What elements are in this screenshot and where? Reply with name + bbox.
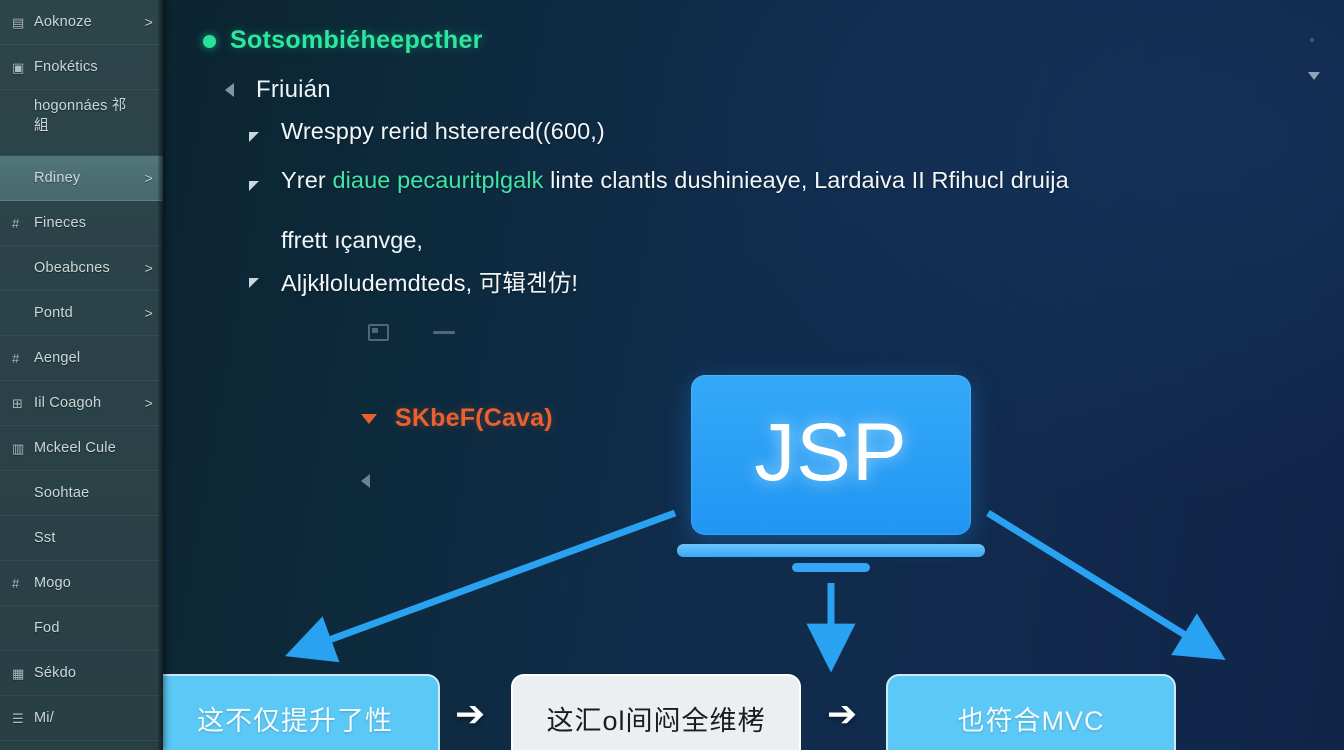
sidebar-item-12[interactable]: #Mogo xyxy=(0,561,163,606)
sidebar-item-label: hogonnáes 祁組 xyxy=(34,96,139,136)
bullet-text-post: linte clantls dushinieaye, Lardaiva II R… xyxy=(543,167,1068,193)
outline-bullet-text: Yrer diaue pecauritplgalk linte clantls … xyxy=(249,167,1069,194)
sidebar-item-2[interactable]: hogonnáes 祁組 xyxy=(0,90,163,156)
sidebar-item-label: Sékdo xyxy=(34,665,139,681)
outline-bullet-text: Wresppy rerid hsterered((600,) xyxy=(249,118,605,145)
chevron-right-icon: > xyxy=(139,14,153,30)
sidebar-item-7[interactable]: #Aengel xyxy=(0,336,163,381)
sidebar-item-1[interactable]: ▣Fnokétics xyxy=(0,45,163,90)
bullet-text-pre: Wresppy rerid hsterered((600,) xyxy=(281,118,605,144)
image-placeholder-icon xyxy=(368,324,389,341)
app-root: ▤Aoknoze>▣Fnokéticshogonnáes 祁組Rdiney>#F… xyxy=(0,0,1344,750)
jsp-laptop-graphic: JSP xyxy=(691,375,971,572)
outline-bullets: Wresppy rerid hsterered((600,) Yrer diau… xyxy=(163,118,1344,313)
arrow-left xyxy=(310,513,675,647)
sidebar-item-11[interactable]: Sst xyxy=(0,516,163,561)
sidebar-item-label: Pontd xyxy=(34,305,139,321)
bullet-triangle-icon xyxy=(249,132,259,142)
bullet-triangle-icon xyxy=(249,278,259,288)
arrow-right xyxy=(988,513,1203,646)
outline-section-2-text: SKbeF(Cava) xyxy=(395,404,553,433)
sidebar-item-14[interactable]: ▦Sékdo xyxy=(0,651,163,696)
sidebar-item-8[interactable]: ⊞Iil Coagoh> xyxy=(0,381,163,426)
bank-icon: ▦ xyxy=(12,667,34,680)
sidebar-item-label: Rdiney xyxy=(34,170,139,186)
edge-marker-dot xyxy=(1310,38,1314,42)
inbox-icon: ▣ xyxy=(12,61,34,74)
sidebar-item-5[interactable]: Obeabcnes> xyxy=(0,246,163,291)
outline-bullet-text: Aljkłloludemdteds, 可辑곈仿! xyxy=(249,264,578,298)
outline-section-2[interactable]: SKbeF(Cava) xyxy=(361,404,553,433)
outline-level1[interactable]: Friuián xyxy=(225,76,331,104)
outline-bullet[interactable]: Yrer diaue pecauritplgalk linte clantls … xyxy=(163,167,1344,215)
laptop-base xyxy=(677,544,985,557)
chevron-right-icon: > xyxy=(139,395,153,411)
monitor-icon: ▥ xyxy=(12,442,34,455)
collapse-triangle-icon[interactable] xyxy=(225,83,234,97)
laptop-screen: JSP xyxy=(691,375,971,535)
sidebar-edge-shadow xyxy=(158,0,163,750)
sidebar-item-label: Mckeel Cule xyxy=(34,440,139,456)
bullet-triangle-icon xyxy=(249,181,259,191)
sidebar-item-0[interactable]: ▤Aoknoze> xyxy=(0,0,163,45)
outline-level1-text: Friuián xyxy=(256,76,331,104)
sidebar-item-6[interactable]: Pontd> xyxy=(0,291,163,336)
sidebar-item-label: Aoknoze xyxy=(34,14,139,30)
flow-boxes: 这不仅提升了性 ➔ 这汇ol间闷全维栲 ➔ 也符合MVC xyxy=(163,660,1344,750)
outline-continuation-text: ffrett ıçanvge, xyxy=(163,216,1344,264)
outline-bullet[interactable]: Aljkłloludemdteds, 可辑곈仿! xyxy=(163,264,1344,312)
flow-box-2[interactable]: 这汇ol间闷全维栲 xyxy=(511,674,801,750)
sidebar-item-label: Soohtae xyxy=(34,485,139,501)
sidebar-item-10[interactable]: Soohtae xyxy=(0,471,163,516)
flow-box-1[interactable]: 这不仅提升了性 xyxy=(163,674,440,750)
chevron-down-icon[interactable] xyxy=(361,414,377,424)
sidebar-item-label: Aengel xyxy=(34,350,139,366)
chevron-right-icon: > xyxy=(139,170,153,186)
sidebar-item-4[interactable]: #Fineces xyxy=(0,201,163,246)
hash-icon: # xyxy=(12,577,34,590)
sidebar-item-label: Mi/ xyxy=(34,710,139,726)
main-canvas: Sotsombiéheepcther Friuián Wresppy rerid… xyxy=(163,0,1344,750)
sidebar-item-label: Fineces xyxy=(34,215,139,231)
sidebar-item-9[interactable]: ▥Mckeel Cule xyxy=(0,426,163,471)
list-icon: ☰ xyxy=(12,712,34,725)
flow-arrow-2-icon: ➔ xyxy=(827,696,857,732)
sidebar-item-13[interactable]: Fod xyxy=(0,606,163,651)
collapse-triangle-icon-2[interactable] xyxy=(361,474,370,488)
grid-icon: ⊞ xyxy=(12,397,34,410)
hash-icon: # xyxy=(12,217,34,230)
edge-chevron-down-icon[interactable] xyxy=(1308,72,1320,80)
sidebar-item-15[interactable]: ☰Mi/ xyxy=(0,696,163,741)
sidebar: ▤Aoknoze>▣Fnokéticshogonnáes 祁組Rdiney>#F… xyxy=(0,0,163,750)
bullet-dot-icon xyxy=(203,35,216,48)
hash-icon: # xyxy=(12,352,34,365)
bullet-text-highlight: diaue pecauritplgalk xyxy=(332,167,543,193)
laptop-foot xyxy=(792,563,870,572)
flow-box-3[interactable]: 也符合MVC xyxy=(886,674,1176,750)
sidebar-item-label: Sst xyxy=(34,530,139,546)
divider-dash-icon xyxy=(433,331,455,334)
sidebar-item-label: Fnokétics xyxy=(34,59,139,75)
chevron-right-icon: > xyxy=(139,260,153,276)
sidebar-item-label: Iil Coagoh xyxy=(34,395,139,411)
sidebar-nav-list: ▤Aoknoze>▣Fnokéticshogonnáes 祁組Rdiney>#F… xyxy=(0,0,163,741)
card-icon: ▤ xyxy=(12,16,34,29)
sidebar-item-label: Obeabcnes xyxy=(34,260,139,276)
flow-arrow-1-icon: ➔ xyxy=(455,696,485,732)
outline-mini-toolbar[interactable] xyxy=(368,324,455,341)
bullet-text-pre: Yrer xyxy=(281,167,332,193)
slide-heading: Sotsombiéheepcther xyxy=(203,26,483,55)
slide-heading-text: Sotsombiéheepcther xyxy=(230,26,483,55)
sidebar-item-3[interactable]: Rdiney> xyxy=(0,156,163,201)
sidebar-item-label: Mogo xyxy=(34,575,139,591)
laptop-screen-label: JSP xyxy=(754,412,907,494)
sidebar-item-label: Fod xyxy=(34,620,139,636)
outline-bullet[interactable]: Wresppy rerid hsterered((600,) xyxy=(163,118,1344,166)
chevron-right-icon: > xyxy=(139,305,153,321)
